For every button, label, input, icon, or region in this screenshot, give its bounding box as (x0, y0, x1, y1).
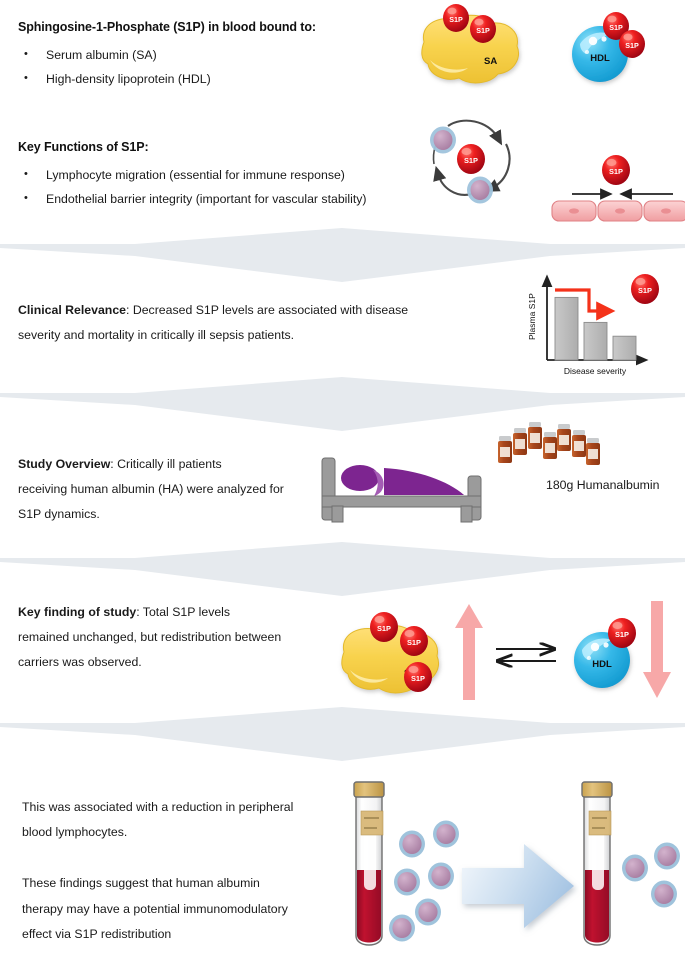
section-divider (0, 705, 685, 767)
s1p-sphere: S1P (602, 155, 630, 185)
paragraph-line: : Decreased S1P levels are associated wi… (126, 303, 408, 317)
bullet-icon: • (18, 192, 46, 206)
vial (513, 428, 527, 455)
bullet-label: High-density lipoprotein (HDL) (46, 72, 211, 87)
vial (528, 422, 542, 449)
lead-in: Study Overview (18, 457, 110, 471)
paragraph-line: : Total S1P levels (136, 605, 230, 619)
lymphocyte-cell (467, 177, 493, 204)
endothelial-cell (598, 201, 642, 221)
svg-text:S1P: S1P (449, 15, 463, 24)
hdl-s1p-graphic: HDL S1P S1P (560, 8, 675, 98)
blood-sample-after-graphic (578, 778, 685, 958)
svg-text:S1P: S1P (377, 624, 391, 633)
lead-in: Key finding of study (18, 605, 136, 619)
hospital-bed-graphic (318, 448, 508, 538)
paragraph-line: This was associated with a reduction in … (22, 795, 342, 820)
paragraph-line: S1P dynamics. (18, 502, 348, 527)
endothelial-barrier-graphic: S1P (560, 155, 685, 225)
paragraph-line: carriers was observed. (18, 650, 338, 675)
bar (584, 322, 607, 360)
paragraph-line: blood lymphocytes. (22, 820, 342, 845)
lymphocyte-migration-graphic: S1P (418, 112, 538, 217)
bullet-label: Serum albumin (SA) (46, 48, 157, 63)
paragraph-line: These findings suggest that human albumi… (22, 871, 342, 896)
lymphocyte-cell (415, 899, 441, 926)
svg-text:S1P: S1P (615, 630, 629, 639)
svg-text:S1P: S1P (476, 26, 490, 35)
albumin-dose-label: 180g Humanalbumin (546, 478, 659, 492)
section-study-overview-text: Study Overview: Critically ill patients … (18, 452, 348, 528)
lymphocyte-cell (651, 881, 677, 908)
s1p-sphere: S1P (608, 618, 636, 648)
vial (498, 436, 512, 463)
serum-albumin-shape (422, 15, 519, 83)
vial (543, 432, 557, 459)
hdl-label: HDL (590, 53, 610, 64)
section-heading: Key Functions of S1P: (18, 140, 438, 154)
section-heading: Sphingosine-1-Phosphate (S1P) in blood b… (18, 20, 418, 34)
paragraph: Study Overview: Critically ill patients (18, 452, 348, 477)
section-clinical-relevance-text: Clinical Relevance: Decreased S1P levels… (18, 298, 488, 348)
plasma-s1p-bar-chart: Plasma S1P Disease severity S1P (505, 268, 680, 378)
lymphocyte-cell (428, 863, 454, 890)
vial (572, 430, 586, 457)
vial (557, 424, 571, 451)
svg-text:S1P: S1P (609, 23, 623, 32)
graphical-abstract: Sphingosine-1-Phosphate (S1P) in blood b… (0, 0, 685, 964)
lymphocyte-cell (430, 127, 456, 154)
s1p-sphere: S1P (404, 662, 432, 692)
bullet-icon: • (18, 168, 46, 182)
equilibrium-arrows-icon (492, 638, 562, 672)
section-key-functions-text: Key Functions of S1P: • Lymphocyte migra… (18, 140, 438, 208)
albumin-label: SA (484, 56, 497, 67)
s1p-sphere: S1P (631, 274, 659, 304)
paragraph-line: severity and mortality in critically ill… (18, 323, 488, 348)
paragraph-line: receiving human albumin (HA) were analyz… (18, 477, 348, 502)
endothelial-cell (552, 201, 596, 221)
lead-in: Clinical Relevance (18, 303, 126, 317)
list-item: • High-density lipoprotein (HDL) (18, 72, 418, 87)
s1p-sphere: S1P (470, 15, 496, 43)
endothelial-cell (644, 201, 685, 221)
lymphocyte-cell (433, 821, 459, 848)
hdl-decrease-arrow (640, 598, 674, 700)
albumin-s1p-graphic: SA S1P S1P (410, 2, 550, 97)
bar (555, 297, 578, 360)
bullet-label: Endothelial barrier integrity (important… (46, 192, 367, 207)
svg-text:S1P: S1P (411, 674, 425, 683)
hdl-label: HDL (592, 659, 612, 670)
section-divider (0, 540, 685, 602)
s1p-sphere: S1P (457, 144, 485, 174)
section-key-finding-text: Key finding of study: Total S1P levels r… (18, 600, 338, 676)
section-s1p-carriers-text: Sphingosine-1-Phosphate (S1P) in blood b… (18, 20, 418, 88)
svg-text:S1P: S1P (464, 156, 478, 165)
paragraph-line: therapy may have a potential immunomodul… (22, 897, 342, 922)
svg-text:S1P: S1P (638, 286, 652, 295)
transition-arrow (460, 838, 580, 938)
paragraph: Clinical Relevance: Decreased S1P levels… (18, 298, 488, 323)
patient-figure (341, 465, 464, 496)
section-conclusion-text: This was associated with a reduction in … (22, 795, 342, 947)
lymphocyte-cell (654, 843, 680, 870)
list-item: • Lymphocyte migration (essential for im… (18, 168, 438, 183)
svg-text:S1P: S1P (625, 41, 639, 50)
bar (613, 336, 636, 360)
list-item: • Serum albumin (SA) (18, 48, 418, 63)
albumin-vials-graphic (497, 418, 607, 478)
y-axis-label: Plasma S1P (527, 293, 537, 340)
lymphocyte-cell (399, 831, 425, 858)
list-item: • Endothelial barrier integrity (importa… (18, 192, 438, 207)
paragraph-line: effect via S1P redistribution (22, 922, 342, 947)
svg-text:S1P: S1P (407, 638, 421, 647)
svg-text:S1P: S1P (609, 167, 623, 176)
paragraph-line: remained unchanged, but redistribution b… (18, 625, 338, 650)
s1p-sphere: S1P (400, 626, 428, 656)
vial (586, 438, 600, 465)
paragraph-line: : Critically ill patients (110, 457, 221, 471)
bullet-label: Lymphocyte migration (essential for immu… (46, 168, 345, 183)
s1p-sphere: S1P (443, 4, 469, 32)
paragraph: Key finding of study: Total S1P levels (18, 600, 338, 625)
sa-increase-arrow (452, 602, 486, 702)
s1p-sphere: S1P (370, 612, 398, 642)
lymphocyte-cell (394, 869, 420, 896)
bullet-icon: • (18, 48, 46, 62)
lymphocyte-cell (622, 855, 648, 882)
bullet-icon: • (18, 72, 46, 86)
lymphocyte-cell (389, 915, 415, 942)
s1p-sphere: S1P (619, 30, 645, 58)
